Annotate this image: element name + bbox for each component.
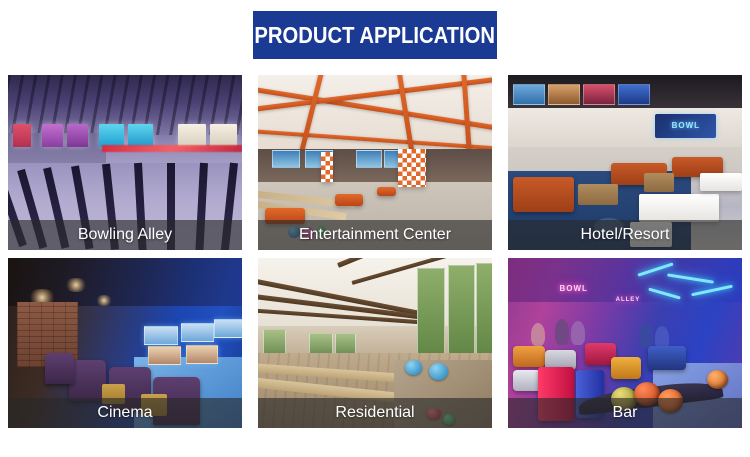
- product-application-page: PRODUCT APPLICATION: [0, 0, 750, 457]
- bowl-neon-sign: BOWL: [655, 114, 716, 139]
- caption-bar: Hotel/Resort: [508, 220, 742, 250]
- gallery-tile-cinema[interactable]: Cinema: [8, 258, 242, 428]
- caption-bar: Bar: [508, 398, 742, 428]
- gallery-caption-cinema: Cinema: [97, 404, 152, 422]
- header-banner-row: PRODUCT APPLICATION: [0, 0, 750, 70]
- gallery-caption-bowling-alley: Bowling Alley: [78, 226, 172, 244]
- gallery-tile-hotel-resort[interactable]: BOWL Hotel/Resort: [508, 75, 742, 250]
- gallery-caption-hotel-resort: Hotel/Resort: [581, 226, 670, 244]
- caption-bar: Cinema: [8, 398, 242, 428]
- gallery-caption-residential: Residential: [335, 404, 414, 422]
- gallery-caption-bar: Bar: [613, 404, 638, 422]
- gallery-tile-bar[interactable]: BOWL ALLEY: [508, 258, 742, 428]
- caption-bar: Entertainment Center: [258, 220, 492, 250]
- gallery-tile-residential[interactable]: Residential: [258, 258, 492, 428]
- application-gallery-grid: Bowling Alley: [8, 75, 742, 428]
- page-title: PRODUCT APPLICATION: [255, 22, 496, 49]
- caption-bar: Bowling Alley: [8, 220, 242, 250]
- caption-bar: Residential: [258, 398, 492, 428]
- gallery-tile-entertainment-center[interactable]: Entertainment Center: [258, 75, 492, 250]
- section-title-banner: PRODUCT APPLICATION: [253, 11, 497, 59]
- gallery-tile-bowling-alley[interactable]: Bowling Alley: [8, 75, 242, 250]
- gallery-caption-entertainment-center: Entertainment Center: [299, 226, 451, 244]
